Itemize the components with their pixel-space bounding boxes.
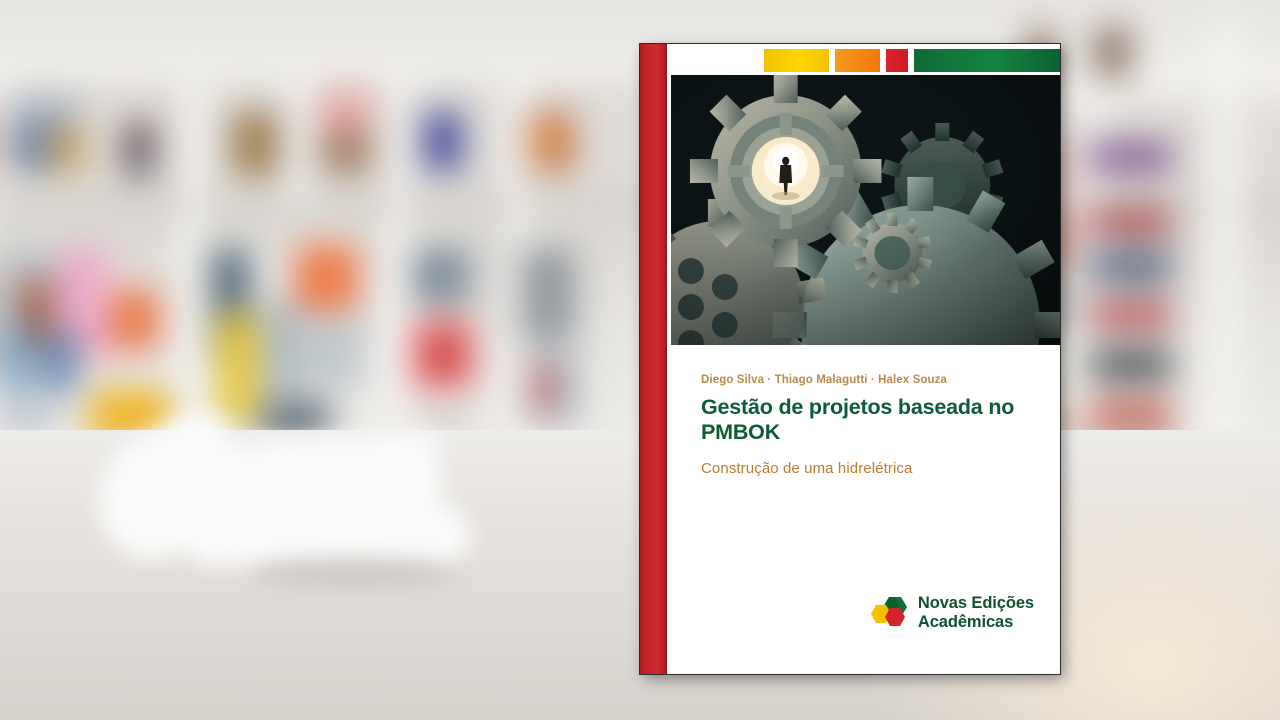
book-front-face: Diego Silva · Thiago Malagutti · Halex S… [671, 44, 1060, 674]
book-title: Gestão de projetos baseada no PMBOK [701, 395, 1032, 446]
publisher-logo: Novas Edições Acadêmicas [869, 594, 1034, 632]
cover-artwork [671, 75, 1060, 345]
chaise-shadow [248, 556, 458, 586]
colorbar-segment-red [886, 49, 908, 72]
colorbar-segment-green [914, 49, 1060, 72]
colorbar-segment-yellow [764, 49, 829, 72]
book-spine-red [640, 44, 667, 674]
artwork-vignette [671, 75, 1060, 345]
publisher-name-line1: Novas Edições [918, 594, 1034, 613]
publisher-hexagon-icon [869, 596, 909, 630]
colorbar-segment-orange [835, 49, 880, 72]
book-subtitle: Construção de uma hidrelétrica [701, 460, 1032, 477]
publisher-name: Novas Edições Acadêmicas [918, 594, 1034, 632]
book-cover: Diego Silva · Thiago Malagutti · Halex S… [640, 44, 1060, 674]
publisher-name-line2: Acadêmicas [918, 613, 1034, 632]
brand-color-bar [671, 44, 1060, 75]
authors-line: Diego Silva · Thiago Malagutti · Halex S… [701, 374, 1032, 386]
